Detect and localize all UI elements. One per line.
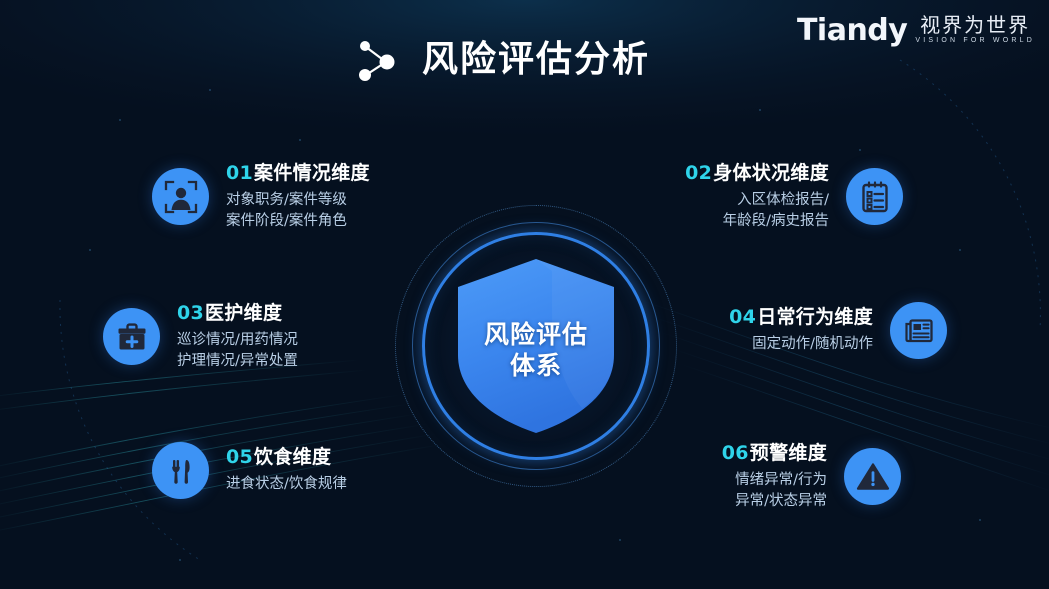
dimension-item-01-label: 案件情况维度	[254, 162, 370, 184]
page-title: 风险评估分析	[422, 42, 650, 78]
dimension-item-05-title: 05饮食维度	[226, 446, 347, 470]
node-network-icon	[352, 36, 400, 84]
medical-kit-icon	[103, 308, 160, 365]
center-shield-cluster: 风险评估 体系	[395, 205, 677, 487]
dimension-item-03-label: 医护维度	[205, 302, 282, 324]
brand-logo: Tiandy 视界为世界 VISION FOR WORLD	[797, 10, 1035, 46]
dimension-item-02-texts: 02身体状况维度 入区体检报告/ 年龄段/病史报告	[685, 162, 829, 232]
dimension-item-03-texts: 03医护维度 巡诊情况/用药情况 护理情况/异常处置	[177, 302, 298, 372]
dimension-item-03-title: 03医护维度	[177, 302, 298, 326]
warning-triangle-icon	[844, 448, 901, 505]
dimension-item-01-desc-line1: 对象职务/案件等级	[226, 190, 370, 211]
dimension-item-03-desc-line2: 护理情况/异常处置	[177, 351, 298, 372]
logo-tagline: VISION FOR WORLD	[915, 37, 1035, 45]
dimension-item-02-desc: 入区体检报告/ 年龄段/病史报告	[685, 190, 829, 232]
dimension-item-01[interactable]: 01案件情况维度 对象职务/案件等级 案件阶段/案件角色	[152, 162, 370, 232]
dimension-item-02-desc-line1: 入区体检报告/	[685, 190, 829, 211]
dimension-item-05-number: 05	[226, 446, 253, 468]
face-recognition-icon	[152, 168, 209, 225]
dimension-item-06-label: 预警维度	[750, 442, 827, 464]
dimension-item-06-desc-line1: 情绪异常/行为	[722, 470, 827, 491]
shield-label: 风险评估 体系	[456, 319, 616, 382]
dimension-item-06-desc: 情绪异常/行为 异常/状态异常	[722, 470, 827, 512]
dimension-item-06-title: 06预警维度	[722, 442, 827, 466]
logo-chinese-block: 视界为世界 VISION FOR WORLD	[915, 15, 1035, 46]
dimension-item-04-label: 日常行为维度	[757, 306, 873, 328]
dimension-item-04-desc-line1: 固定动作/随机动作	[729, 334, 873, 355]
dimension-item-06-desc-line2: 异常/状态异常	[722, 491, 827, 512]
dimension-item-05-texts: 05饮食维度 进食状态/饮食规律	[226, 446, 347, 495]
dimension-item-05-label: 饮食维度	[254, 446, 331, 468]
dimension-item-03-number: 03	[177, 302, 204, 324]
dimension-item-03[interactable]: 03医护维度 巡诊情况/用药情况 护理情况/异常处置	[103, 302, 298, 372]
dimension-item-05-desc: 进食状态/饮食规律	[226, 474, 347, 495]
newspaper-icon	[890, 302, 947, 359]
shield-label-line1: 风险评估	[456, 319, 616, 350]
dimension-item-03-desc: 巡诊情况/用药情况 护理情况/异常处置	[177, 330, 298, 372]
logo-wordmark: Tiandy	[797, 16, 907, 46]
logo-chinese-text: 视界为世界	[920, 15, 1030, 36]
slide-root: Tiandy 视界为世界 VISION FOR WORLD 风险评估分析	[0, 0, 1049, 589]
dimension-item-01-title: 01案件情况维度	[226, 162, 370, 186]
dimension-item-06-number: 06	[722, 442, 749, 464]
clipboard-checklist-icon	[846, 168, 903, 225]
dimension-item-04[interactable]: 04日常行为维度 固定动作/随机动作	[729, 302, 947, 359]
dimension-item-02-title: 02身体状况维度	[685, 162, 829, 186]
dimension-item-02-desc-line2: 年龄段/病史报告	[685, 211, 829, 232]
dimension-item-02-label: 身体状况维度	[713, 162, 829, 184]
dimension-item-04-number: 04	[729, 306, 756, 328]
fork-knife-icon	[152, 442, 209, 499]
dimension-item-06[interactable]: 06预警维度 情绪异常/行为 异常/状态异常	[722, 442, 901, 512]
shield-graphic: 风险评估 体系	[456, 257, 616, 435]
dimension-item-02[interactable]: 02身体状况维度 入区体检报告/ 年龄段/病史报告	[685, 162, 903, 232]
dimension-item-06-texts: 06预警维度 情绪异常/行为 异常/状态异常	[722, 442, 827, 512]
dimension-item-03-desc-line1: 巡诊情况/用药情况	[177, 330, 298, 351]
dimension-item-04-texts: 04日常行为维度 固定动作/随机动作	[729, 306, 873, 355]
dimension-item-04-title: 04日常行为维度	[729, 306, 873, 330]
dimension-item-01-texts: 01案件情况维度 对象职务/案件等级 案件阶段/案件角色	[226, 162, 370, 232]
dimension-item-01-number: 01	[226, 162, 253, 184]
dimension-item-05[interactable]: 05饮食维度 进食状态/饮食规律	[152, 442, 347, 499]
dimension-item-02-number: 02	[685, 162, 712, 184]
dimension-item-04-desc: 固定动作/随机动作	[729, 334, 873, 355]
dimension-item-01-desc-line2: 案件阶段/案件角色	[226, 211, 370, 232]
dimension-item-01-desc: 对象职务/案件等级 案件阶段/案件角色	[226, 190, 370, 232]
slide-header: 风险评估分析	[352, 36, 650, 84]
shield-label-line2: 体系	[456, 350, 616, 381]
dimension-item-05-desc-line1: 进食状态/饮食规律	[226, 474, 347, 495]
